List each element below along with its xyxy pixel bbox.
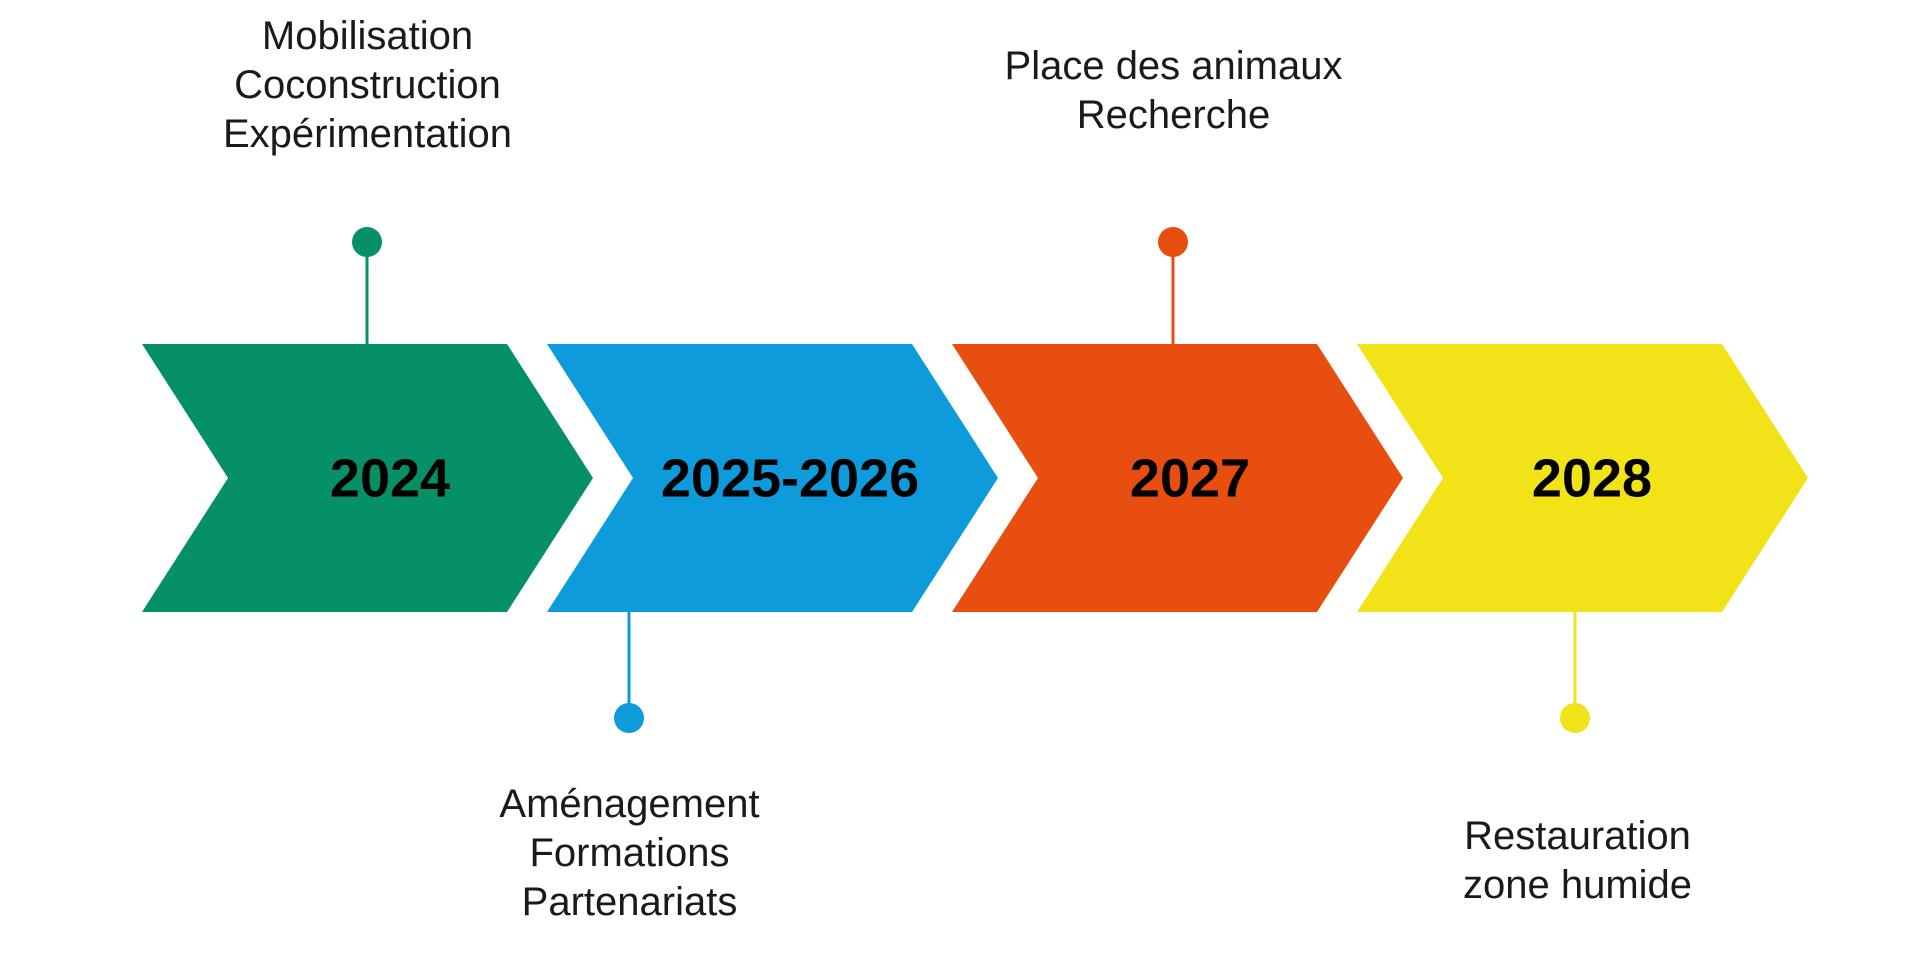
year-label-2028: 2028	[1532, 448, 1652, 508]
year-label-2025-2026: 2025-2026	[661, 448, 919, 508]
timeline-step-2027[interactable]: 2027	[952, 227, 1403, 612]
timeline-step-2028[interactable]: 2028	[1357, 344, 1808, 733]
connector-dot-2028	[1560, 703, 1590, 733]
timeline-step-2025-2026[interactable]: 2025-2026	[547, 344, 998, 733]
year-label-2027: 2027	[1130, 448, 1250, 508]
connector-dot-2024	[352, 227, 382, 257]
caption-2027: Place des animaux Recherche	[896, 42, 1451, 140]
timeline-diagram: 2024 2025-2026 2027 2028 Mobilisation Co…	[0, 0, 1920, 960]
caption-2025-2026: Aménagement Formations Partenariats	[352, 780, 907, 926]
year-label-2024: 2024	[330, 448, 450, 508]
caption-2028: Restauration zone humide	[1300, 812, 1855, 910]
caption-2024: Mobilisation Coconstruction Expérimentat…	[90, 12, 645, 158]
timeline-step-2024[interactable]: 2024	[142, 227, 593, 612]
connector-dot-2025-2026	[614, 703, 644, 733]
connector-dot-2027	[1158, 227, 1188, 257]
